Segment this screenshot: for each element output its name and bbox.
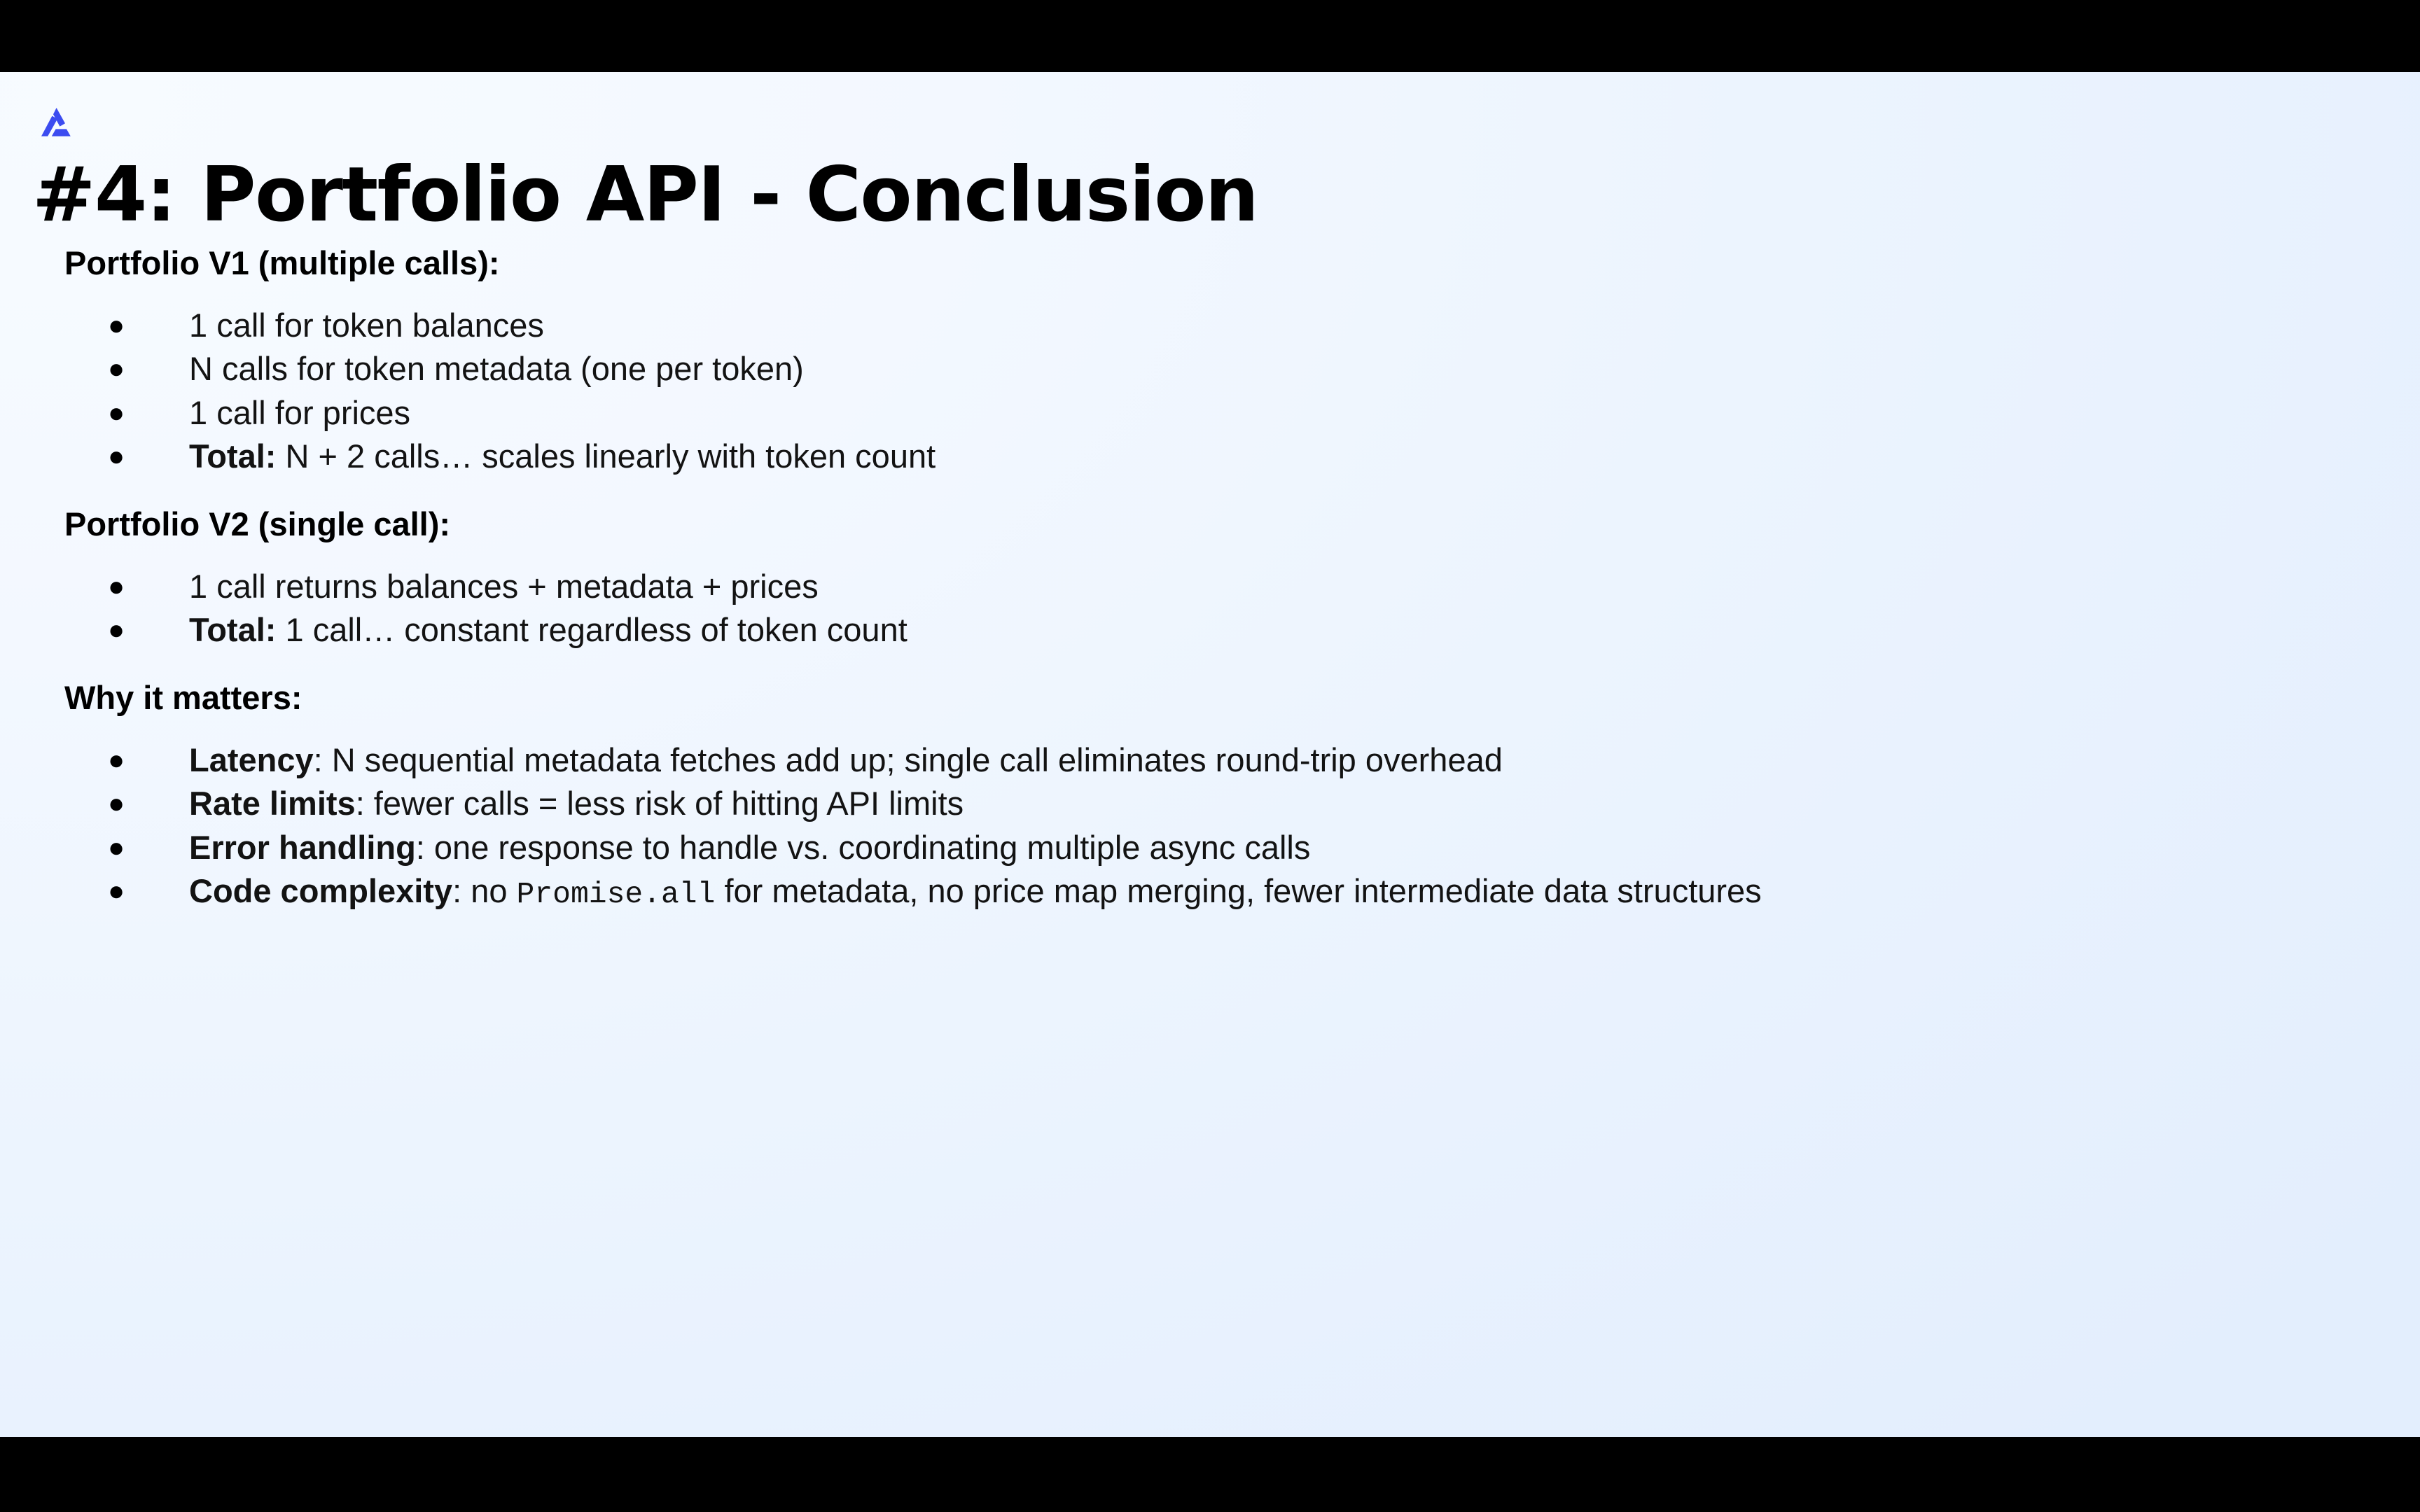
bullet-dot-icon: ● bbox=[108, 738, 125, 782]
list-item-lead: Total: bbox=[189, 611, 276, 648]
bullet-dot-icon: ● bbox=[108, 304, 125, 347]
bullet-dot-icon: ● bbox=[108, 782, 125, 825]
list-item: ● Total: N + 2 calls… scales linearly wi… bbox=[64, 435, 2354, 479]
section-heading-portfolio-v2: Portfolio V2 (single call): bbox=[64, 503, 2354, 547]
alchemy-triangle-logo-icon bbox=[36, 106, 76, 142]
spacer bbox=[64, 652, 2354, 676]
bullet-dot-icon: ● bbox=[108, 869, 125, 913]
section-heading-portfolio-v1: Portfolio V1 (multiple calls): bbox=[64, 241, 2354, 286]
bullet-dot-icon: ● bbox=[108, 608, 125, 652]
spacer bbox=[64, 547, 2354, 565]
list-item: ●Code complexity: no Promise.all for met… bbox=[64, 869, 2354, 914]
list-item-label-tail: for metadata, no price map merging, fewe… bbox=[715, 872, 1761, 909]
letterbox-top bbox=[0, 0, 2420, 72]
bullet-list-why-it-matters: ● Latency: N sequential metadata fetches… bbox=[64, 738, 2354, 915]
bullet-dot-icon: ● bbox=[108, 565, 125, 608]
inline-code-promise-all: Promise.all bbox=[517, 877, 716, 911]
list-item-lead: Rate limits bbox=[189, 785, 356, 822]
bullet-dot-icon: ● bbox=[108, 826, 125, 869]
list-item: ● Error handling: one response to handle… bbox=[64, 826, 2354, 870]
presentation-deck: #4: Portfolio API - Conclusion Portfolio… bbox=[0, 0, 2420, 1512]
bullet-dot-icon: ● bbox=[108, 391, 125, 435]
page-title: #4: Portfolio API - Conclusion bbox=[32, 155, 1258, 237]
spacer bbox=[64, 479, 2354, 503]
list-item-label: N + 2 calls… scales linearly with token … bbox=[276, 437, 936, 475]
slide-canvas: #4: Portfolio API - Conclusion Portfolio… bbox=[0, 72, 2420, 1437]
list-item-label: : fewer calls = less risk of hitting API… bbox=[356, 785, 964, 822]
list-item-label: : N sequential metadata fetches add up; … bbox=[314, 741, 1503, 778]
list-item: ● 1 call for token balances bbox=[64, 304, 2354, 348]
list-item: ● Rate limits: fewer calls = less risk o… bbox=[64, 782, 2354, 826]
list-item-label: N calls for token metadata (one per toke… bbox=[189, 350, 804, 387]
list-item: ● 1 call returns balances + metadata + p… bbox=[64, 565, 2354, 609]
list-item-lead: Total: bbox=[189, 437, 276, 475]
bullet-dot-icon: ● bbox=[108, 435, 125, 478]
list-item-label: 1 call… constant regardless of token cou… bbox=[276, 611, 907, 648]
bullet-list-portfolio-v2: ● 1 call returns balances + metadata + p… bbox=[64, 565, 2354, 652]
letterbox-bottom bbox=[0, 1437, 2420, 1512]
list-item-label: 1 call for token balances bbox=[189, 307, 544, 344]
bullet-dot-icon: ● bbox=[108, 347, 125, 391]
section-heading-why-it-matters: Why it matters: bbox=[64, 676, 2354, 720]
list-item-label: 1 call returns balances + metadata + pri… bbox=[189, 568, 819, 605]
list-item: ● 1 call for prices bbox=[64, 391, 2354, 435]
list-item-label: 1 call for prices bbox=[189, 394, 410, 431]
list-item: ● Latency: N sequential metadata fetches… bbox=[64, 738, 2354, 783]
list-item-lead: Code complexity bbox=[189, 872, 452, 909]
list-item: ● Total: 1 call… constant regardless of … bbox=[64, 608, 2354, 652]
list-item: ● N calls for token metadata (one per to… bbox=[64, 347, 2354, 391]
list-item-lead: Error handling bbox=[189, 829, 416, 866]
slide-body: Portfolio V1 (multiple calls): ● 1 call … bbox=[64, 241, 2354, 915]
spacer bbox=[64, 286, 2354, 304]
spacer bbox=[64, 720, 2354, 738]
list-item-label: : one response to handle vs. coordinatin… bbox=[416, 829, 1311, 866]
list-item-lead: Latency bbox=[189, 741, 314, 778]
list-item-label: : no bbox=[452, 872, 516, 909]
bullet-list-portfolio-v1: ● 1 call for token balances ● N calls fo… bbox=[64, 304, 2354, 479]
